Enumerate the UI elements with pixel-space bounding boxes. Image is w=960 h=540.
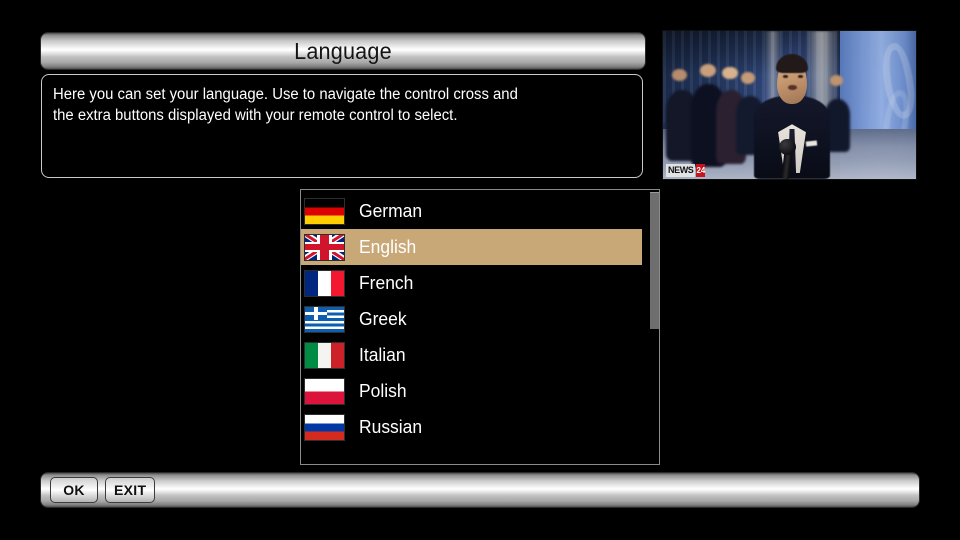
language-list-item[interactable]: Russian bbox=[301, 409, 642, 445]
video-subject-eye bbox=[783, 75, 789, 78]
language-list-panel: GermanEnglishFrenchGreekItalianPolishRus… bbox=[300, 189, 660, 465]
language-list-item[interactable]: Polish bbox=[301, 373, 642, 409]
video-subject-mouth bbox=[788, 85, 797, 90]
page-title: Language bbox=[294, 38, 392, 65]
language-list-item[interactable]: German bbox=[301, 193, 642, 229]
flag-france-icon bbox=[304, 270, 345, 297]
video-microphone-head bbox=[779, 139, 795, 155]
language-list: GermanEnglishFrenchGreekItalianPolishRus… bbox=[301, 193, 642, 445]
flag-poland-icon bbox=[304, 378, 345, 405]
language-list-item[interactable]: French bbox=[301, 265, 642, 301]
flag-greece-icon bbox=[304, 306, 345, 333]
flag-united-kingdom-icon bbox=[304, 234, 345, 261]
language-list-item[interactable]: Italian bbox=[301, 337, 642, 373]
language-list-item[interactable]: Greek bbox=[301, 301, 642, 337]
language-list-item-label: English bbox=[359, 237, 416, 258]
video-crowd-head bbox=[830, 75, 843, 85]
language-list-item-label: Greek bbox=[359, 309, 407, 330]
watermark-text: NEWS bbox=[666, 164, 695, 177]
ok-button[interactable]: OK bbox=[50, 477, 98, 503]
tv-settings-screen: Language Here you can set your language.… bbox=[0, 0, 960, 540]
watermark-badge: 24 bbox=[696, 164, 705, 177]
flag-germany-icon bbox=[304, 198, 345, 225]
flag-russia-icon bbox=[304, 414, 345, 441]
language-list-item-label: Italian bbox=[359, 345, 406, 366]
exit-button[interactable]: EXIT bbox=[105, 477, 155, 503]
language-list-scrollbar-track[interactable] bbox=[650, 190, 659, 464]
flag-italy-icon bbox=[304, 342, 345, 369]
info-panel-text: Here you can set your language. Use to n… bbox=[53, 84, 608, 126]
language-list-item[interactable]: English bbox=[301, 229, 642, 265]
video-subject-eye bbox=[798, 75, 804, 78]
video-crowd-head bbox=[722, 67, 737, 80]
language-list-item-label: German bbox=[359, 201, 422, 222]
language-list-item-label: Polish bbox=[359, 381, 407, 402]
language-list-scrollbar-thumb[interactable] bbox=[650, 192, 659, 329]
language-list-item-label: French bbox=[359, 273, 413, 294]
video-preview[interactable]: NEWS 24 bbox=[662, 30, 917, 180]
video-crowd-head bbox=[700, 64, 716, 77]
title-bar: Language bbox=[41, 33, 645, 69]
info-panel: Here you can set your language. Use to n… bbox=[41, 74, 643, 178]
language-list-item-label: Russian bbox=[359, 417, 422, 438]
bottom-button-bar: OK EXIT bbox=[41, 473, 919, 507]
video-channel-watermark: NEWS 24 bbox=[666, 164, 705, 177]
